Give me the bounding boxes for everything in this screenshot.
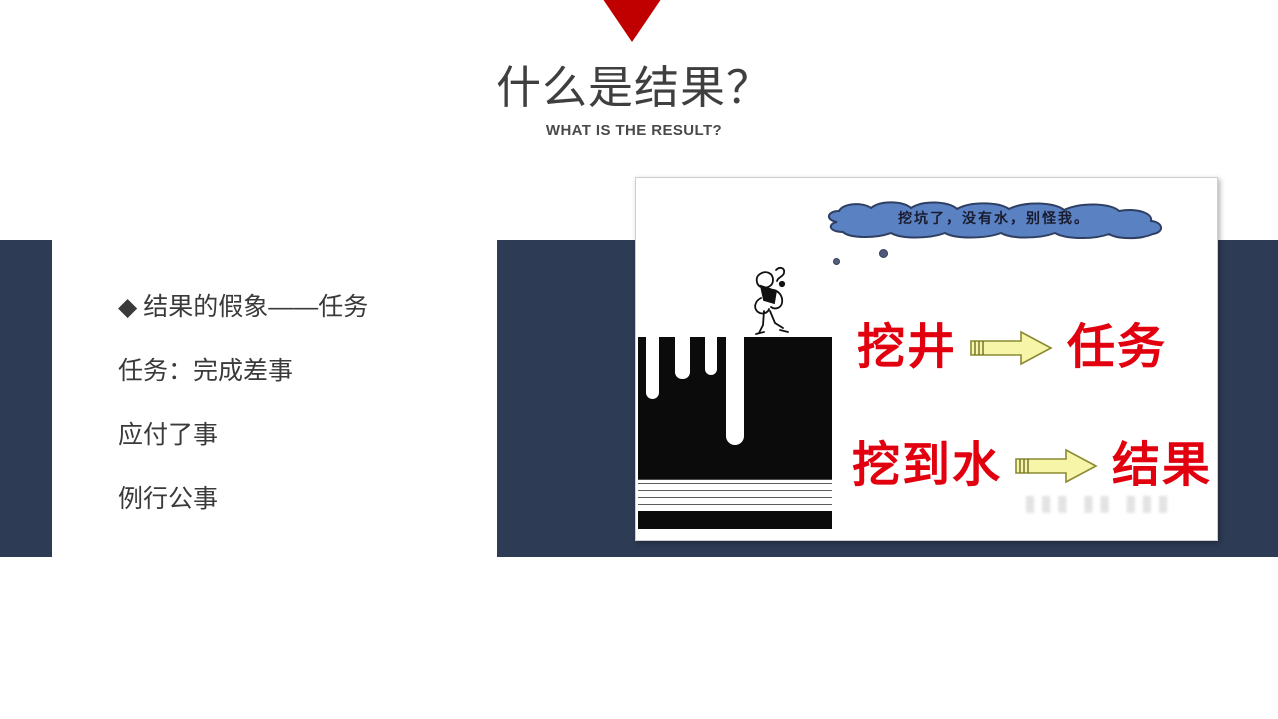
walking-person-icon: [746, 264, 794, 340]
bubble-tail-dot-large: [879, 249, 888, 258]
page-title: 什么是结果？ WHAT IS THE RESULT?: [334, 60, 934, 139]
title-chinese: 什么是结果？: [334, 60, 934, 116]
list-item-label: 结果的假象——任务: [143, 293, 368, 321]
ground-cross-section: [638, 337, 832, 479]
right-arrow-icon: [1014, 446, 1100, 486]
list-item: 应付了事: [118, 420, 478, 450]
title-english: WHAT IS THE RESULT?: [334, 122, 934, 139]
bubble-tail-dot-small: [833, 258, 840, 265]
slide-canvas: 什么是结果？ WHAT IS THE RESULT? ◆结果的假象——任务 任务…: [0, 0, 1278, 719]
row-right-label: 结果: [1112, 440, 1212, 492]
bedrock-layer: [638, 511, 832, 529]
list-item: 例行公事: [118, 484, 478, 514]
illustration-row: 挖到水 结果: [852, 440, 1212, 492]
list-item: ◆结果的假象——任务: [118, 292, 478, 322]
navy-band-left: [0, 240, 52, 557]
list-item-label: 例行公事: [118, 485, 218, 513]
well-shaft: [675, 337, 690, 379]
diamond-bullet-icon: ◆: [118, 292, 137, 322]
list-item-label: 应付了事: [118, 421, 218, 449]
list-item-label: 任务：完成差事: [118, 357, 293, 385]
well-shaft: [646, 337, 659, 399]
row-right-label: 任务: [1067, 322, 1167, 374]
illustration-panel: 挖坑了，没有水，别怪我。: [635, 177, 1218, 541]
row-left-label: 挖井: [857, 322, 957, 374]
speech-bubble-text: 挖坑了，没有水，别怪我。: [819, 208, 1169, 228]
red-down-triangle-icon: [575, 0, 689, 42]
water-table-layer: [638, 479, 832, 512]
well-shaft: [726, 337, 744, 445]
bullet-list: ◆结果的假象——任务 任务：完成差事 应付了事 例行公事: [118, 292, 478, 514]
right-arrow-icon: [969, 328, 1055, 368]
row-left-label: 挖到水: [852, 440, 1002, 492]
watermark: ▮▮▮ ▮▮ ▮▮▮: [1024, 490, 1214, 518]
list-item: 任务：完成差事: [118, 356, 478, 386]
well-shaft: [705, 337, 717, 375]
illustration-row: 挖井 任务: [857, 322, 1167, 374]
